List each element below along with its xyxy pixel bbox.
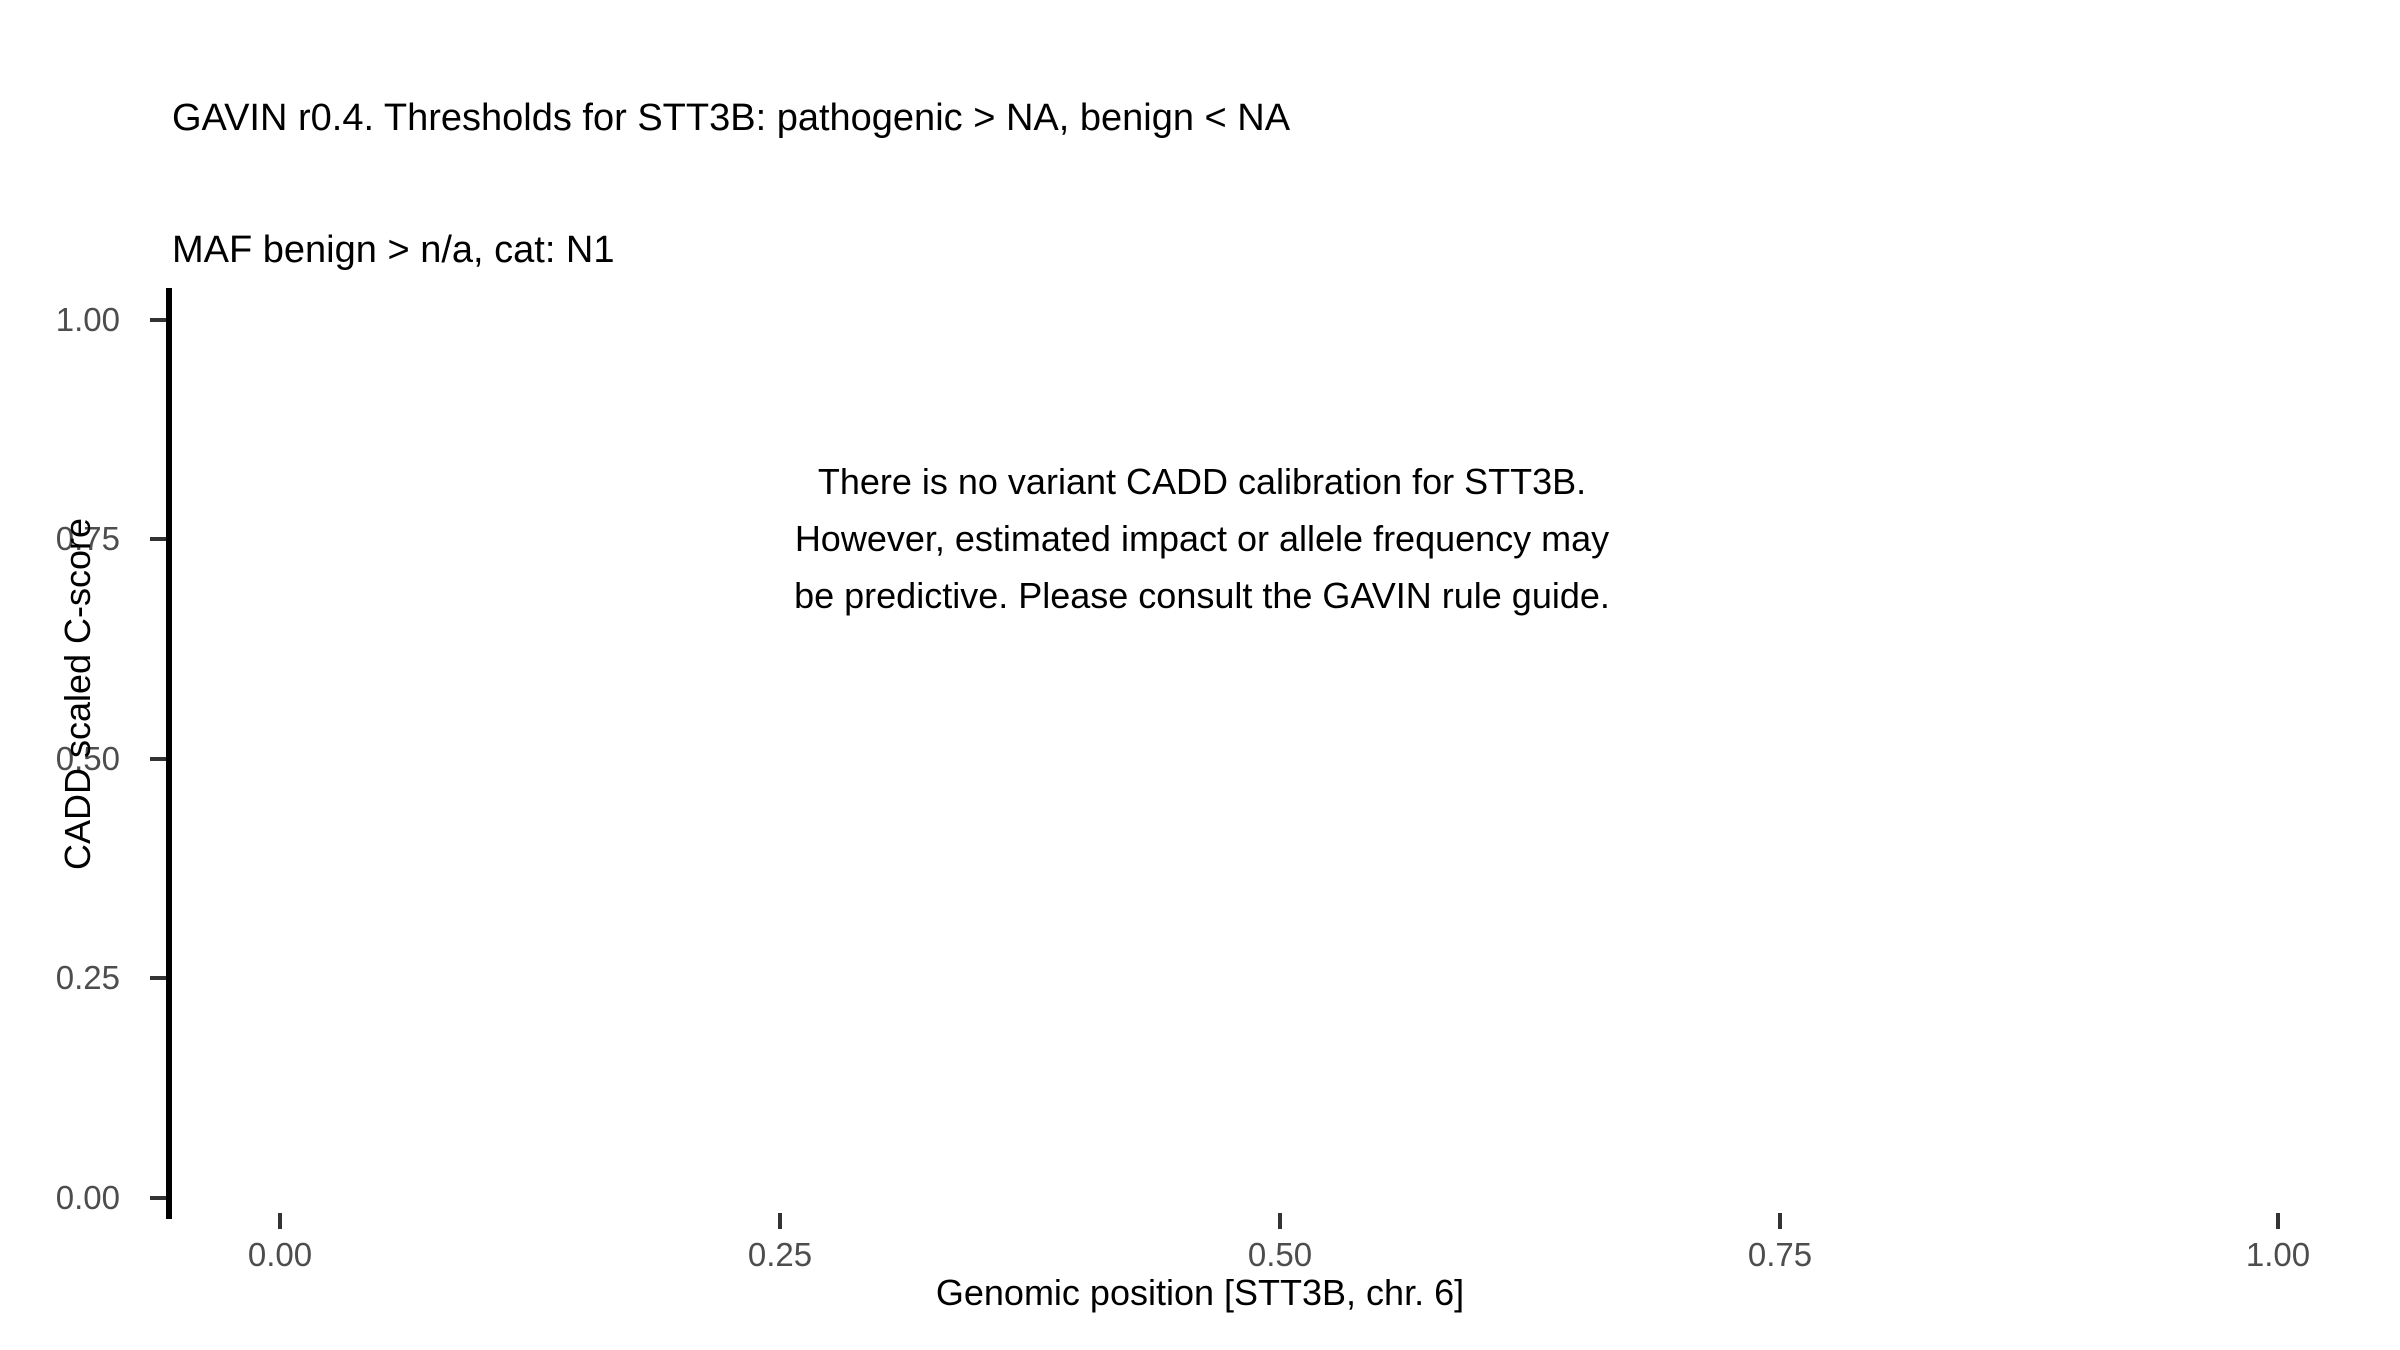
x-tick-label-0.50: 0.50 [1200, 1238, 1360, 1271]
x-tick-label-0.25: 0.25 [700, 1238, 860, 1271]
plot-panel: There is no variant CADD calibration for… [172, 288, 2378, 1213]
y-tick-mark-0.75 [150, 537, 166, 541]
y-tick-mark-1.00 [150, 318, 166, 322]
y-axis-title: CADD scaled C-score [60, 224, 96, 1164]
no-calibration-message: There is no variant CADD calibration for… [602, 453, 1802, 624]
plot-title-line-2: MAF benign > n/a, cat: N1 [172, 228, 2272, 272]
x-tick-label-1.00: 1.00 [2198, 1238, 2358, 1271]
plot-root: GAVIN r0.4. Thresholds for STT3B: pathog… [0, 0, 2400, 1350]
plot-title-line-1: GAVIN r0.4. Thresholds for STT3B: pathog… [172, 96, 2272, 140]
message-line-3: be predictive. Please consult the GAVIN … [602, 567, 1802, 624]
x-axis-title: Genomic position [STT3B, chr. 6] [0, 1275, 2400, 1311]
x-tick-mark-1.00 [2276, 1213, 2280, 1229]
message-line-1: There is no variant CADD calibration for… [602, 453, 1802, 510]
message-line-2: However, estimated impact or allele freq… [602, 510, 1802, 567]
y-tick-mark-0.50 [150, 757, 166, 761]
y-tick-mark-0.25 [150, 976, 166, 980]
x-tick-mark-0.75 [1778, 1213, 1782, 1229]
x-tick-mark-0.25 [778, 1213, 782, 1229]
x-tick-label-0.75: 0.75 [1700, 1238, 1860, 1271]
y-tick-mark-0.00 [150, 1196, 166, 1200]
x-tick-mark-0.00 [278, 1213, 282, 1229]
x-tick-mark-0.50 [1278, 1213, 1282, 1229]
x-tick-label-0.00: 0.00 [200, 1238, 360, 1271]
y-tick-label-0.00: 0.00 [0, 1181, 120, 1214]
